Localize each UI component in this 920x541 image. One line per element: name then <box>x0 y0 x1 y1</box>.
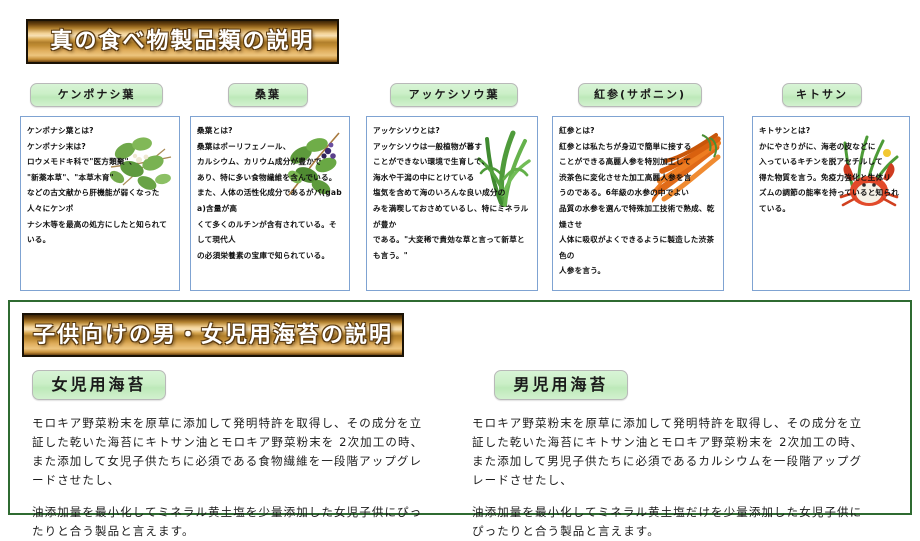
card-body-glasswort: アッケシソウとは? アッケシソウは一般植物が暮す ことができない環境で生育して、… <box>367 117 537 267</box>
card-panel: アッケシソウとは? アッケシソウは一般植物が暮す ことができない環境で生育して、… <box>366 116 538 291</box>
card-line: 紅参とは? <box>559 123 718 139</box>
card-line: の必須栄養素の宝庫で知られている。 <box>197 248 344 264</box>
nori-text-girls: モロキア野菜粉末を原草に添加して発明特許を取得し、その成分を立証した乾いた海苔に… <box>32 414 432 541</box>
card-line: かにやさりがに、海老の皮などに <box>759 139 904 155</box>
card-body-kenponashi: ケンポナシ葉とは? ケンポナシ末は? ロウメモドキ科で"医方類聚"、 "新薬本草… <box>21 117 179 252</box>
card-line: である。"大変稀で貴効な草と言って新草とも言う。" <box>373 232 532 263</box>
card-line: ナシ木等を最高の処方にしたと知られている。 <box>27 217 174 248</box>
card-line: 人参を言う。 <box>559 263 718 279</box>
nori-paragraph: 油添加量を最小化してミネラル黄土塩を少量添加した女児子供にぴったりと合う製品と言… <box>32 503 432 541</box>
card-line: みを満喫しておさめているし、特にミネラルが豊か <box>373 201 532 232</box>
top-section-banner: 真の食べ物製品類の説明 <box>26 19 339 64</box>
card-label-chitosan[interactable]: キトサン <box>782 83 862 107</box>
card-line: 桑葉とは? <box>197 123 344 139</box>
top-section-banner-title: 真の食べ物製品類の説明 <box>28 21 337 62</box>
card-line: くて多くのルチンが含有されている。そして現代人 <box>197 217 344 248</box>
card-line: 人体に吸収がよくできるように製造した渋茶色の <box>559 232 718 263</box>
card-panel: 紅参とは? 紅参とは私たちが身辺で簡単に接する ことができる高麗人参を特別加工し… <box>552 116 724 291</box>
card-line: ロウメモドキ科で"医方類聚"、 <box>27 154 174 170</box>
card-line: 桑葉はポーリフェノール、 <box>197 139 344 155</box>
card-panel: ケンポナシ葉とは? ケンポナシ末は? ロウメモドキ科で"医方類聚"、 "新薬本草… <box>20 116 180 291</box>
card-line: あり、特に多い食物繊維を含んでいる。 <box>197 170 344 186</box>
card-body-mulberry: 桑葉とは? 桑葉はポーリフェノール、 カルシウム、カリウム成分が豊かで あり、特… <box>191 117 349 267</box>
card-line: ズムの調節の能率を持っていると知られている。 <box>759 185 904 216</box>
bottom-section-banner-title: 子供向けの男・女児用海苔の説明 <box>24 315 402 355</box>
card-line: キトサンとは? <box>759 123 904 139</box>
nori-label-girls[interactable]: 女児用海苔 <box>32 370 166 400</box>
card-line: カルシウム、カリウム成分が豊かで <box>197 154 344 170</box>
card-panel: キトサンとは? かにやさりがに、海老の皮などに 入っているキチンを脱アセチルして… <box>752 116 910 291</box>
card-line: 塩気を含めて海のいろんな良い成分の <box>373 185 532 201</box>
card-line: 品質の水参を選んで特殊加工技術で熟成、乾燥させ <box>559 201 718 232</box>
card-line: アッケシソウとは? <box>373 123 532 139</box>
nori-paragraph: 油添加量を最小化してミネラル黄土塩だけを少量添加した女児子供にぴったりと合う製品… <box>472 503 872 541</box>
card-line: 紅参とは私たちが身辺で簡単に接する <box>559 139 718 155</box>
card-line: また、人体の活性化成分であるがバ(gaba)含量が高 <box>197 185 344 216</box>
card-line: 渋茶色に変化させた加工高麗人参を言 <box>559 170 718 186</box>
card-line: などの古文献から肝機能が弱くなった人々にケンポ <box>27 185 174 216</box>
card-line: 海水や干潟の中にとけている <box>373 170 532 186</box>
nori-label-boys[interactable]: 男児用海苔 <box>494 370 628 400</box>
card-label-red-ginseng[interactable]: 紅参(サポニン) <box>578 83 702 107</box>
card-line: "新薬本草"、"本草木育" <box>27 170 174 186</box>
card-panel: 桑葉とは? 桑葉はポーリフェノール、 カルシウム、カリウム成分が豊かで あり、特… <box>190 116 350 291</box>
card-line: ケンポナシ末は? <box>27 139 174 155</box>
card-label-mulberry[interactable]: 桑葉 <box>228 83 308 107</box>
nori-paragraph: モロキア野菜粉末を原草に添加して発明特許を取得し、その成分を立証した乾いた海苔に… <box>472 414 872 490</box>
card-label-glasswort[interactable]: アッケシソウ葉 <box>390 83 518 107</box>
card-label-kenponashi[interactable]: ケンポナシ葉 <box>30 83 163 107</box>
card-line: アッケシソウは一般植物が暮す <box>373 139 532 155</box>
card-body-red-ginseng: 紅参とは? 紅参とは私たちが身辺で簡単に接する ことができる高麗人参を特別加工し… <box>553 117 723 283</box>
card-line: うのである。6年級の水参の中でよい <box>559 185 718 201</box>
nori-paragraph: モロキア野菜粉末を原草に添加して発明特許を取得し、その成分を立証した乾いた海苔に… <box>32 414 432 490</box>
card-body-chitosan: キトサンとは? かにやさりがに、海老の皮などに 入っているキチンを脱アセチルして… <box>753 117 909 221</box>
card-line: 得た物質を言う。免疫力強化と生体リ <box>759 170 904 186</box>
card-line: ことができない環境で生育して、 <box>373 154 532 170</box>
bottom-section-banner: 子供向けの男・女児用海苔の説明 <box>22 313 404 357</box>
card-line: 入っているキチンを脱アセチルして <box>759 154 904 170</box>
nori-text-boys: モロキア野菜粉末を原草に添加して発明特許を取得し、その成分を立証した乾いた海苔に… <box>472 414 872 541</box>
ingredient-card-row: ケンポナシ葉 ケンポナシ葉とは? <box>0 83 920 295</box>
card-line: ことができる高麗人参を特別加工して <box>559 154 718 170</box>
card-line: ケンポナシ葉とは? <box>27 123 174 139</box>
